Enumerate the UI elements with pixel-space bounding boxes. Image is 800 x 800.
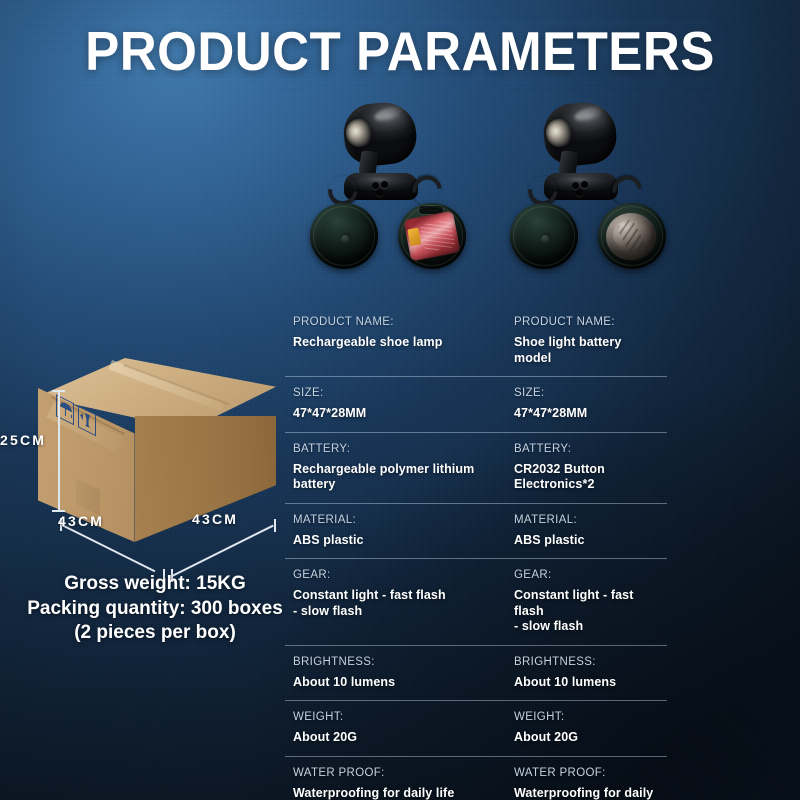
clip-hole bbox=[376, 189, 383, 196]
spec-cell-left: SIZE: 47*47*28MM bbox=[285, 377, 506, 432]
clip-mount-icon bbox=[328, 169, 436, 203]
spec-value: Waterproofing for daily life bbox=[514, 786, 661, 800]
spec-cell-left: MATERIAL: ABS plastic bbox=[285, 504, 506, 559]
spec-cell-left: GEAR: Constant light - fast flash - slow… bbox=[285, 559, 506, 645]
spec-value: 47*47*28MM bbox=[514, 406, 661, 422]
product-photo-left bbox=[300, 95, 500, 285]
spec-value: About 20G bbox=[514, 730, 661, 746]
spec-value: ABS plastic bbox=[293, 533, 500, 549]
dimension-label-width: 43CM bbox=[58, 513, 104, 529]
spec-cell-right: WEIGHT: About 20G bbox=[506, 701, 667, 756]
housing-rim bbox=[313, 206, 375, 266]
spec-label: BRIGHTNESS: bbox=[514, 655, 661, 670]
spec-label: MATERIAL: bbox=[293, 513, 500, 528]
spec-cell-right: MATERIAL: ABS plastic bbox=[506, 504, 667, 559]
fragile-crack-mark bbox=[80, 412, 84, 421]
spec-label: BRIGHTNESS: bbox=[293, 655, 500, 670]
table-row: SIZE: 47*47*28MM SIZE: 47*47*28MM bbox=[285, 376, 667, 432]
spec-value: About 20G bbox=[293, 730, 500, 746]
housing-rim bbox=[601, 206, 663, 266]
table-row: BRIGHTNESS: About 10 lumens BRIGHTNESS: … bbox=[285, 645, 667, 701]
spec-value: 47*47*28MM bbox=[293, 406, 500, 422]
dimension-cap-far bbox=[274, 519, 276, 532]
housing-rim bbox=[401, 206, 463, 266]
table-row: GEAR: Constant light - fast flash - slow… bbox=[285, 558, 667, 645]
spec-value: Constant light - fast flash - slow flash bbox=[293, 588, 500, 619]
spec-label: MATERIAL: bbox=[514, 513, 661, 528]
spec-cell-right: BRIGHTNESS: About 10 lumens bbox=[506, 646, 667, 701]
spec-label: PRODUCT NAME: bbox=[293, 315, 500, 330]
spec-value: About 10 lumens bbox=[293, 675, 500, 691]
product-parameters-infographic: PRODUCT PARAMETERS bbox=[0, 0, 800, 800]
spec-cell-right: SIZE: 47*47*28MM bbox=[506, 377, 667, 432]
dimension-cap-bottom bbox=[52, 510, 65, 512]
spec-cell-right: PRODUCT NAME: Shoe light battery model bbox=[506, 306, 667, 376]
spec-label: WATER PROOF: bbox=[293, 766, 500, 781]
table-row: BATTERY: Rechargeable polymer lithium ba… bbox=[285, 432, 667, 503]
spec-cell-right: GEAR: Constant light - fast flash - slow… bbox=[506, 559, 667, 645]
spec-label: GEAR: bbox=[514, 568, 661, 583]
spec-label: GEAR: bbox=[293, 568, 500, 583]
dimension-label-height: 25CM bbox=[0, 432, 46, 448]
lamp-head-icon bbox=[544, 103, 616, 165]
product-photo-right bbox=[500, 95, 700, 285]
spec-cell-left: WATER PROOF: Waterproofing for daily lif… bbox=[285, 757, 506, 800]
spec-table: PRODUCT NAME: Rechargeable shoe lamp PRO… bbox=[285, 306, 667, 800]
spec-cell-left: BATTERY: Rechargeable polymer lithium ba… bbox=[285, 433, 506, 503]
clip-hole bbox=[381, 181, 388, 188]
wine-glass-shape bbox=[85, 413, 90, 428]
spec-value: Rechargeable shoe lamp bbox=[293, 335, 500, 351]
closed-housing-right bbox=[510, 203, 578, 269]
spec-cell-right: WATER PROOF: Waterproofing for daily lif… bbox=[506, 757, 667, 800]
open-housing-left bbox=[398, 203, 466, 269]
spec-value: Constant light - fast flash - slow flash bbox=[514, 588, 661, 635]
clip-hole bbox=[581, 181, 588, 188]
clip-mount-icon bbox=[528, 169, 636, 203]
spec-label: PRODUCT NAME: bbox=[514, 315, 661, 330]
packing-line-gross-weight: Gross weight: 15KG bbox=[10, 572, 300, 597]
spec-label: BATTERY: bbox=[293, 442, 500, 457]
spec-cell-left: BRIGHTNESS: About 10 lumens bbox=[285, 646, 506, 701]
packing-line-quantity: Packing quantity: 300 boxes bbox=[10, 597, 300, 622]
open-housing-right bbox=[598, 203, 666, 269]
clip-hole bbox=[572, 182, 579, 189]
lamp-head-icon bbox=[344, 103, 416, 165]
spec-value: Rechargeable polymer lithium battery bbox=[293, 462, 500, 493]
spec-value: ABS plastic bbox=[514, 533, 661, 549]
spec-label: SIZE: bbox=[293, 386, 500, 401]
packing-line-pieces: (2 pieces per box) bbox=[10, 621, 300, 646]
table-row: WATER PROOF: Waterproofing for daily lif… bbox=[285, 756, 667, 800]
spec-cell-left: PRODUCT NAME: Rechargeable shoe lamp bbox=[285, 306, 506, 376]
table-row: MATERIAL: ABS plastic MATERIAL: ABS plas… bbox=[285, 503, 667, 559]
spec-cell-right: BATTERY: CR2032 Button Electronics*2 bbox=[506, 433, 667, 503]
spec-label: WEIGHT: bbox=[293, 710, 500, 725]
spec-cell-left: WEIGHT: About 20G bbox=[285, 701, 506, 756]
table-row: WEIGHT: About 20G WEIGHT: About 20G bbox=[285, 700, 667, 756]
closed-housing-left bbox=[310, 203, 378, 269]
clip-hole bbox=[372, 182, 379, 189]
page-title: PRODUCT PARAMETERS bbox=[28, 21, 772, 81]
dimension-label-depth: 43CM bbox=[192, 511, 238, 527]
rain-drop bbox=[71, 415, 72, 419]
dimension-line-height bbox=[58, 390, 60, 512]
table-row: PRODUCT NAME: Rechargeable shoe lamp PRO… bbox=[285, 306, 667, 376]
spec-value: Waterproofing for daily life bbox=[293, 786, 500, 800]
spec-label: WATER PROOF: bbox=[514, 766, 661, 781]
clip-hole bbox=[576, 189, 583, 196]
housing-rim bbox=[513, 206, 575, 266]
spec-value: About 10 lumens bbox=[514, 675, 661, 691]
spec-label: SIZE: bbox=[514, 386, 661, 401]
spec-value: CR2032 Button Electronics*2 bbox=[514, 462, 661, 493]
packing-summary: Gross weight: 15KG Packing quantity: 300… bbox=[10, 572, 300, 646]
spec-value: Shoe light battery model bbox=[514, 335, 661, 366]
spec-label: BATTERY: bbox=[514, 442, 661, 457]
dimension-cap-top bbox=[52, 390, 65, 392]
spec-label: WEIGHT: bbox=[514, 710, 661, 725]
umbrella-stem bbox=[65, 408, 66, 417]
